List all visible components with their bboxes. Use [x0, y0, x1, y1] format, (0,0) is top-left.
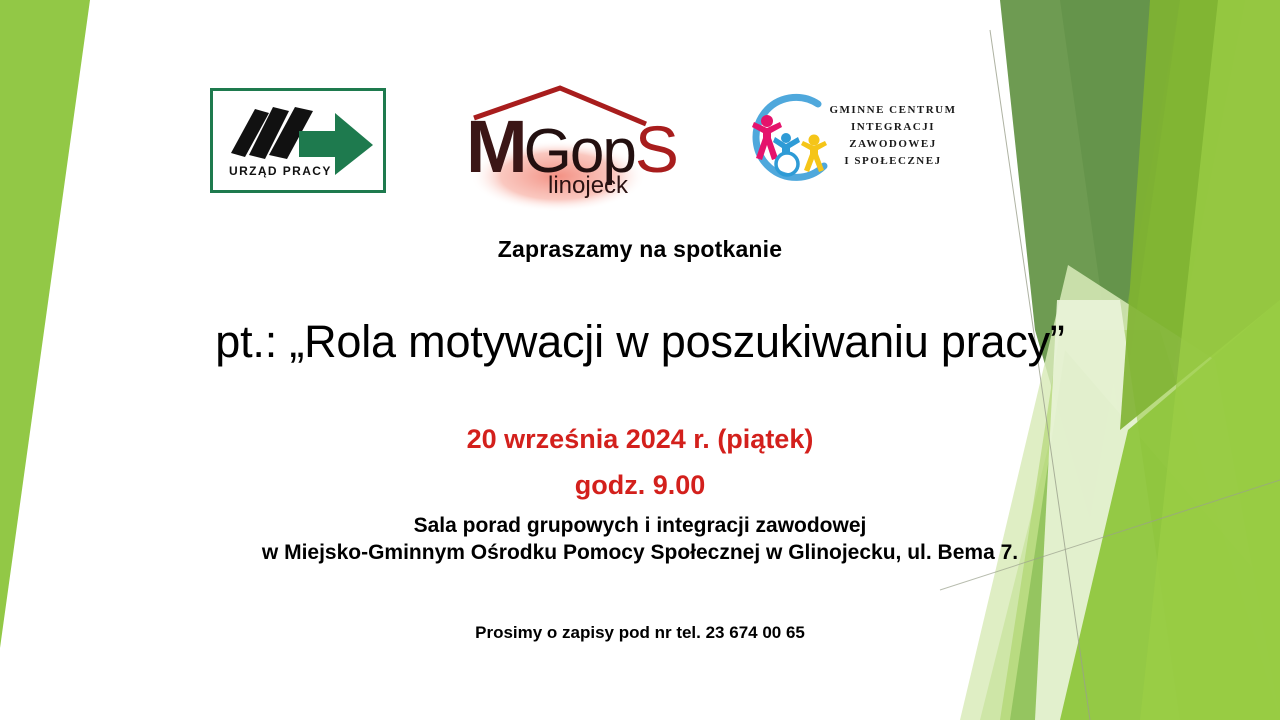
invite-line: Zapraszamy na spotkanie — [0, 236, 1280, 263]
gciz-line-4: I SPOŁECZNEJ — [818, 153, 968, 170]
gciz-line-2: INTEGRACJI — [818, 119, 968, 136]
blue-wheelchair-person-icon — [773, 133, 800, 175]
event-date: 20 września 2024 r. (piątek) — [0, 424, 1280, 455]
gciz-line-1: GMINNE CENTRUM — [818, 102, 968, 119]
logo-urzad-pracy: URZĄD PRACY — [210, 88, 386, 193]
mgops-letter-s: S — [635, 112, 679, 186]
mgops-letter-m: M — [466, 105, 524, 188]
presentation-slide: URZĄD PRACY MGopS linojeck — [0, 0, 1280, 720]
gciz-line-3: ZAWODOWEJ — [818, 136, 968, 153]
gciz-text-block: GMINNE CENTRUM INTEGRACJI ZAWODOWEJ I SP… — [818, 102, 968, 170]
urzad-pracy-label: URZĄD PRACY — [229, 164, 332, 178]
lecture-title: pt.: „Rola motywacji w poszukiwaniu prac… — [0, 316, 1280, 368]
logo-row: URZĄD PRACY MGopS linojeck — [180, 78, 1000, 208]
venue-line-2: w Miejsko-Gminnym Ośrodku Pomocy Społecz… — [0, 541, 1280, 565]
venue-line-1: Sala porad grupowych i integracji zawodo… — [0, 514, 1280, 538]
signup-note: Prosimy o zapisy pod nr tel. 23 674 00 6… — [0, 623, 1280, 643]
event-time: godz. 9.00 — [0, 470, 1280, 501]
mgops-subtitle: linojeck — [548, 172, 628, 200]
logo-mgops: MGopS linojeck — [460, 80, 670, 215]
logo-gciz: GMINNE CENTRUM INTEGRACJI ZAWODOWEJ I SP… — [740, 90, 970, 190]
